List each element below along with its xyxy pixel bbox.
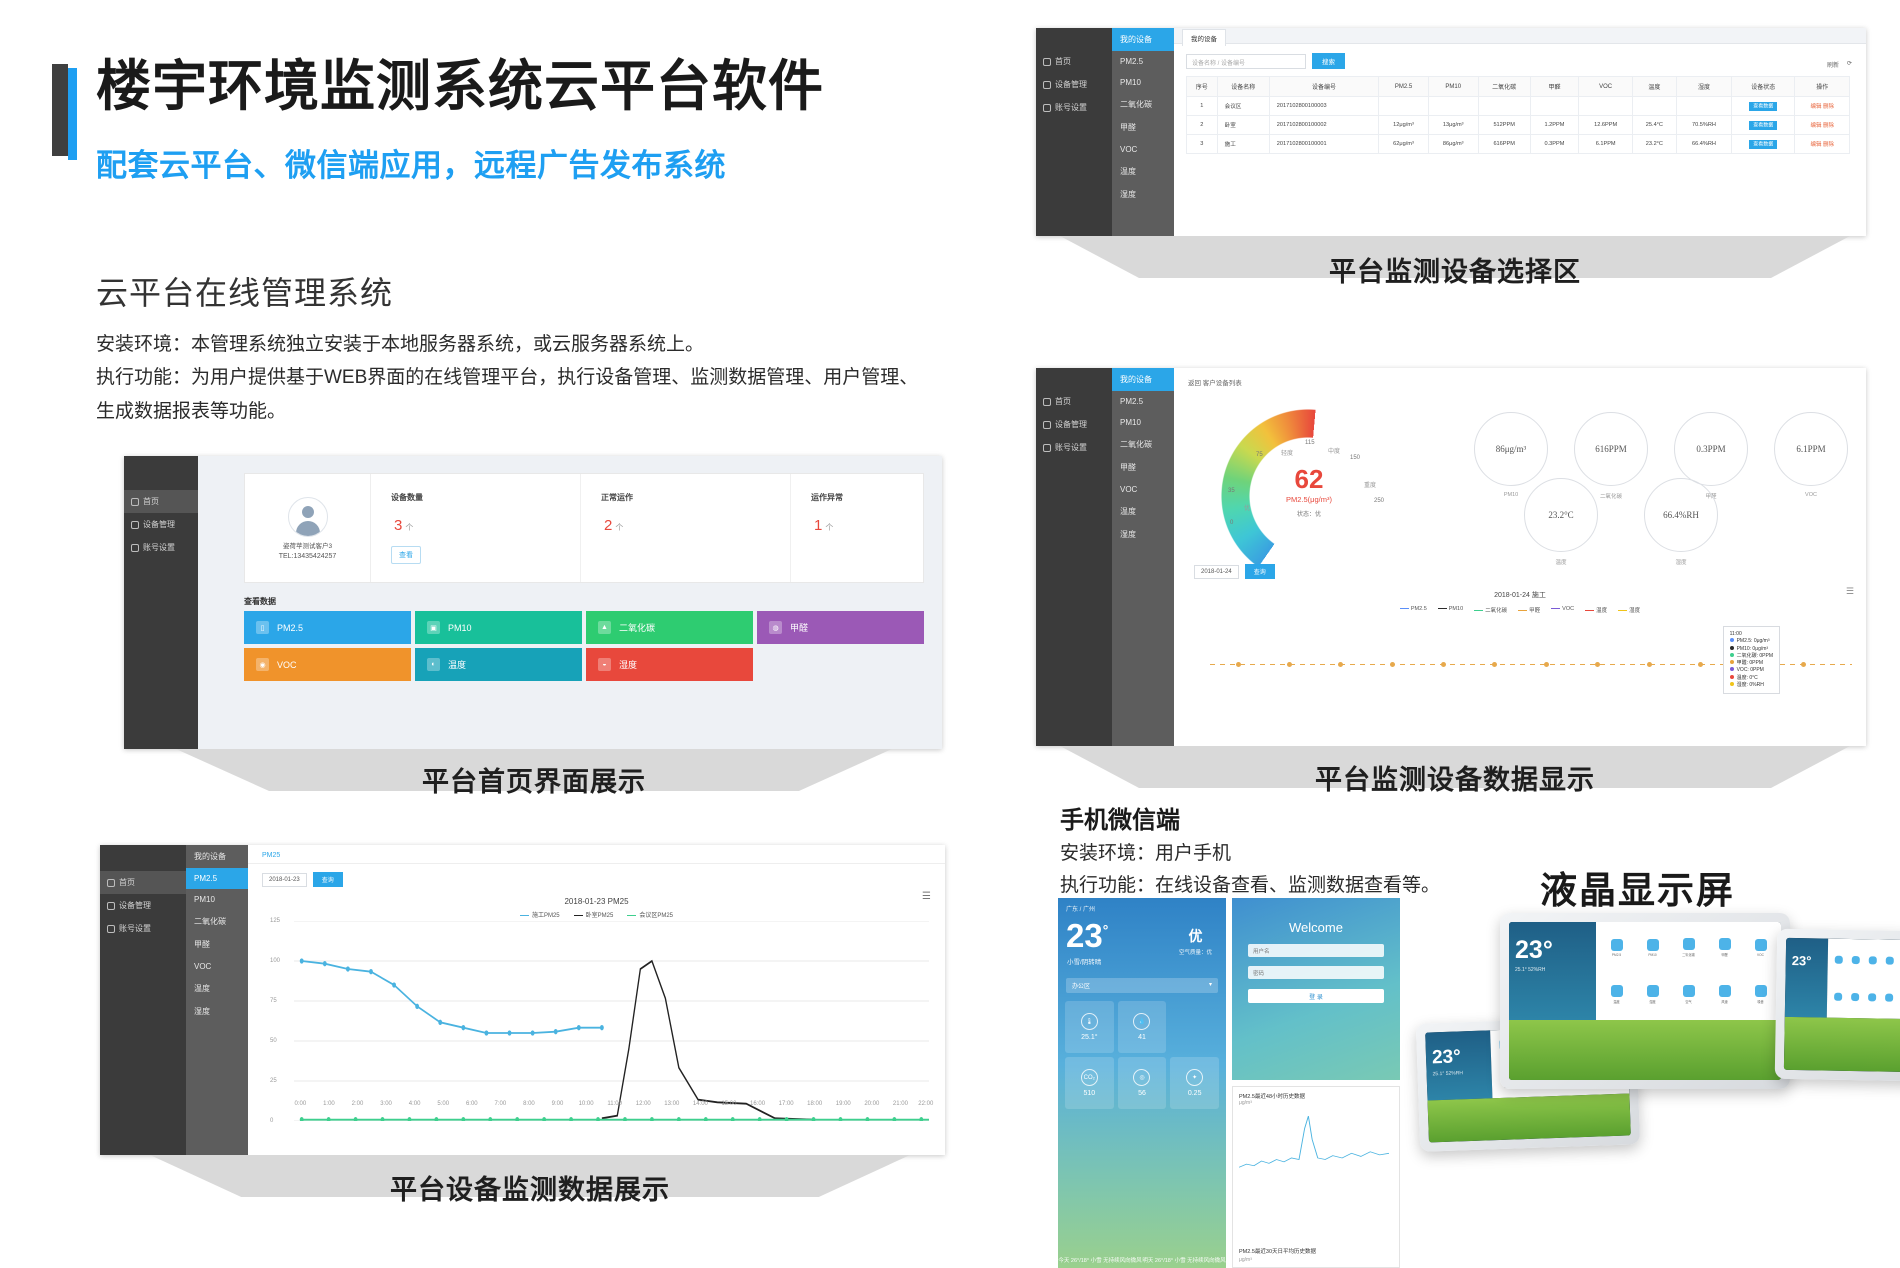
search-input[interactable]: 设备名称 / 设备编号 <box>1186 54 1306 69</box>
cell-pm10 <box>1428 97 1478 116</box>
cell-no: 1 <box>1187 97 1218 116</box>
devtable-submenu[interactable]: 我的设备 PM2.5 PM10 二氧化碳 甲醛 VOC 温度 湿度 <box>1112 28 1174 236</box>
tile-label: PM2.5 <box>277 623 303 633</box>
co2-icon: ▲ <box>598 621 611 634</box>
cell-co2: 616PPM <box>1478 135 1530 154</box>
submenu-humidity[interactable]: 湿度 <box>186 1000 248 1023</box>
ring-humidity-label: 湿度 <box>1644 558 1718 566</box>
history-unit-2: μg/m³ <box>1239 1257 1252 1263</box>
submenu-humidity[interactable]: 湿度 <box>1112 523 1174 546</box>
pm25-icon: ◎ <box>1133 1069 1150 1086</box>
tile-pm25[interactable]: ▯ PM2.5 <box>244 611 411 644</box>
x-tick: 6:00 <box>466 1101 478 1107</box>
cell-voc: 12.6PPM <box>1579 116 1633 135</box>
ring-pm10: 86μg/m³ <box>1474 412 1548 486</box>
kpi-label: 正常运作 <box>601 492 790 503</box>
submenu-pm25[interactable]: PM2.5 <box>186 868 248 889</box>
co2-icon <box>1683 938 1695 950</box>
trend-screenshot: 首页 设备管理 账号设置 我的设备 PM2.5 PM10 二氧化碳 甲醛 VOC… <box>100 845 945 1155</box>
gauge-readout: 62 PM2.5(μg/m³) 状态：优 <box>1204 466 1414 518</box>
col-pm25: PM2.5 <box>1379 77 1429 97</box>
tile-voc[interactable]: ◉ VOC <box>244 648 411 681</box>
cell-hum: 66.4%RH <box>1676 135 1732 154</box>
search-row: 设备名称 / 设备编号 搜索 <box>1174 44 1866 76</box>
ring-temp-label: 温度 <box>1524 558 1598 566</box>
y-tick: 75 <box>270 998 277 1004</box>
submenu-my-devices[interactable]: 我的设备 <box>1112 368 1174 391</box>
noise-icon <box>1755 985 1767 997</box>
ring-voc: 6.1PPM <box>1774 412 1848 486</box>
chart-tooltip: 11:00 PM2.5: 0μg/m³ PM10: 0μg/m³ 二氧化碳: 0… <box>1723 626 1780 694</box>
thermometer-icon: 🌡 <box>1081 1013 1098 1030</box>
lcd-weather-panel: 23° 25.1° 52%RH <box>1425 1030 1492 1100</box>
sidebar-item-home[interactable]: 首页 <box>100 871 186 894</box>
wechat-login-screen: Welcome 用户名 密码 登 录 <box>1232 898 1400 1080</box>
refresh-row[interactable]: 刷新 ⟳ <box>1827 60 1852 69</box>
gauge-tick: 150 <box>1350 455 1360 461</box>
chart-title: 2018-01-23 PM25 <box>248 897 945 906</box>
devdata-main: 返回 客户设备列表 0 35 75 115 150 250 优 轻度 中度 重度… <box>1174 368 1866 746</box>
forecast-footer: 今天 26°/18° 小雪 无持续风向微风 明天 26°/18° 小雪 无持续风… <box>1058 1256 1226 1264</box>
device-data-screenshot: 首页 设备管理 账号设置 我的设备 PM2.5 PM10 二氧化碳 甲醛 VOC… <box>1036 368 1866 746</box>
co2-icon <box>1869 956 1877 964</box>
sidebar-item-label: 账号设置 <box>1055 442 1087 453</box>
submenu-temp[interactable]: 温度 <box>1112 500 1174 523</box>
login-button[interactable]: 登 录 <box>1248 989 1384 1003</box>
x-tick: 10:00 <box>579 1101 594 1107</box>
tab-strip[interactable]: 我的设备 <box>1174 28 1866 44</box>
sidebar-item-home[interactable]: 首页 <box>1036 50 1112 73</box>
avatar <box>288 497 328 537</box>
lcd-heading: 液晶显示屏 <box>1540 860 1735 914</box>
cell-pm25 <box>1379 97 1429 116</box>
legend-construction[interactable]: 施工PM25 <box>520 910 560 919</box>
legend-meeting[interactable]: 会议区PM25 <box>627 910 673 919</box>
cell-code: 2017102800100001 <box>1269 135 1378 154</box>
home-icon <box>1043 398 1051 406</box>
x-tick: 15:00 <box>721 1101 736 1107</box>
hcho-icon <box>1886 957 1894 965</box>
history-title-2: PM2.5最近30天日平均历史数据 <box>1239 1247 1316 1255</box>
tooltip-item: VOC: 0PPM <box>1730 667 1773 674</box>
tile-label: 二氧化碳 <box>619 621 655 634</box>
gauge-band-label: 轻度 <box>1281 448 1293 457</box>
hcho-icon <box>1719 938 1731 950</box>
cell-temp: 25.4°C <box>1633 116 1676 135</box>
page-subtitle: 配套云平台、微信端应用，远程广告发布系统 <box>96 140 872 185</box>
cell-no: 3 <box>1187 135 1218 154</box>
x-tick: 12:00 <box>636 1101 651 1107</box>
table-row[interactable]: 3 施工 2017102800100001 62μg/m³ 86μg/m³ 61… <box>1187 135 1850 154</box>
device-icon <box>107 902 115 910</box>
lcd-decor <box>1428 1094 1631 1143</box>
tile-label: 湿度 <box>619 658 637 671</box>
x-tick: 19:00 <box>836 1101 851 1107</box>
paragraph-line-1: 安装环境：本管理系统独立安装于本地服务器系统，或云服务器系统上。 <box>96 328 1036 361</box>
temp-icon <box>1834 993 1842 1001</box>
submenu-pm25[interactable]: PM2.5 <box>1112 51 1174 72</box>
mobile-heading: 手机微信端 <box>1060 800 1180 835</box>
row-actions[interactable]: 编辑 删除 <box>1811 104 1835 110</box>
cell-value: 56 <box>1138 1090 1146 1097</box>
temp-icon: ◐ <box>427 658 440 671</box>
data-section-label: 查看数据 <box>244 596 276 607</box>
x-tick: 2:00 <box>352 1101 364 1107</box>
home-icon <box>131 498 139 506</box>
status-badge[interactable]: 查看数据 <box>1749 121 1777 130</box>
trend-main: PM25 2018-01-23 查询 ☰ 2018-01-23 PM25 施工P… <box>248 845 945 1155</box>
cell-pm10: 13μg/m³ <box>1428 116 1478 135</box>
hamburger-icon[interactable]: ☰ <box>922 891 931 902</box>
chart-title: 2018-01-24 施工 <box>1174 590 1866 600</box>
gauge-tick: 0 <box>1230 520 1233 526</box>
kpi-normal: 正常运作 2个 <box>581 474 791 582</box>
hcho-icon: ◍ <box>769 621 782 634</box>
history-chart <box>1239 1113 1389 1175</box>
section-paragraph: 安装环境：本管理系统独立安装于本地服务器系统，或云服务器系统上。 执行功能：为用… <box>96 328 1036 428</box>
hero-accent-bar <box>52 64 68 156</box>
username-field[interactable]: 用户名 <box>1248 944 1384 957</box>
sidebar-item-label: 账号设置 <box>1055 102 1087 113</box>
legend-temp[interactable]: 温度 <box>1585 606 1607 614</box>
col-pm10: PM10 <box>1428 77 1478 97</box>
gauge-tick: 75 <box>1256 452 1263 458</box>
cell-value: 0.25 <box>1188 1090 1202 1097</box>
trend-plot: 125 100 75 50 25 0 <box>294 921 929 1121</box>
trend-caption: 平台设备监测数据展示 <box>310 1168 750 1207</box>
tile-humidity[interactable]: ◒ 湿度 <box>586 648 753 681</box>
cell-hcho <box>1530 97 1578 116</box>
col-code: 设备编号 <box>1269 77 1378 97</box>
x-tick: 9:00 <box>552 1101 564 1107</box>
cell-pm25: 62μg/m³ <box>1379 135 1429 154</box>
cell-value: 41 <box>1138 1034 1146 1041</box>
lcd-weather-panel: 23° <box>1785 938 1829 1018</box>
submenu-voc[interactable]: VOC <box>186 956 248 977</box>
air-icon <box>1868 993 1876 1001</box>
row-actions[interactable]: 编辑 删除 <box>1811 123 1835 129</box>
tooltip-item: 二氧化碳: 0PPM <box>1730 653 1773 660</box>
submenu-temp[interactable]: 温度 <box>186 977 248 1000</box>
col-temp: 温度 <box>1633 77 1676 97</box>
cell-pm10: 86μg/m³ <box>1428 135 1478 154</box>
submenu-humidity[interactable]: 湿度 <box>1112 183 1174 206</box>
sidebar-item-settings[interactable]: 账号设置 <box>100 917 186 940</box>
cell-temp <box>1633 97 1676 116</box>
x-tick: 11:00 <box>607 1101 622 1107</box>
ring-voc-label: VOC <box>1774 492 1848 498</box>
wind-icon <box>1719 985 1731 997</box>
submenu-co2[interactable]: 二氧化碳 <box>1112 93 1174 116</box>
kpi-label: 设备数量 <box>391 492 580 503</box>
tab-my-devices[interactable]: 我的设备 <box>1182 29 1226 46</box>
date-input[interactable]: 2018-01-23 <box>262 873 307 887</box>
x-tick: 7:00 <box>495 1101 507 1107</box>
trend-sidebar[interactable]: 首页 设备管理 账号设置 <box>100 845 186 1155</box>
pm25-gauge: 0 35 75 115 150 250 优 轻度 中度 重度 62 PM2.5(… <box>1204 402 1414 542</box>
aqi-label: 空气质量：优 <box>1179 948 1212 956</box>
cell-voc: 6.1PPM <box>1579 135 1633 154</box>
cell-temperature[interactable]: 🌡25.1° <box>1065 1001 1114 1053</box>
query-button[interactable]: 查询 <box>1245 564 1275 579</box>
lcd-decor <box>1784 1017 1900 1072</box>
tile-label: 甲醛 <box>790 621 808 634</box>
cell-voc[interactable]: ✦0.25 <box>1170 1057 1219 1109</box>
data-tiles: ▯ PM2.5 ▣ PM10 ▲ 二氧化碳 ◍ 甲醛 ◉ VOC ◐ 温度 <box>244 611 924 681</box>
gauge-tick: 115 <box>1305 440 1315 446</box>
lcd-weather-panel: 23° 25.1° 52%RH <box>1509 922 1596 1020</box>
sidebar-item-device[interactable]: 设备管理 <box>1036 413 1112 436</box>
col-hcho: 甲醛 <box>1530 77 1578 97</box>
devdata-sidebar[interactable]: 首页 设备管理 账号设置 <box>1036 368 1112 746</box>
mobile-paragraph: 安装环境：用户手机 执行功能：在线设备查看、监测数据查看等。 <box>1060 838 1440 903</box>
voc-icon <box>1755 939 1767 951</box>
cell-hum: 70.5%RH <box>1676 116 1732 135</box>
sidebar-item-home[interactable]: 首页 <box>1036 390 1112 413</box>
x-tick: 16:00 <box>750 1101 765 1107</box>
submenu-pm10[interactable]: PM10 <box>186 889 248 910</box>
cell-co2 <box>1478 97 1530 116</box>
cell-hum <box>1676 97 1732 116</box>
tab-pm25[interactable]: PM25 <box>248 845 945 864</box>
humidity-icon: 💧 <box>1133 1013 1150 1030</box>
kpi-unit: 个 <box>825 523 833 532</box>
date-input[interactable]: 2018-01-24 <box>1194 565 1239 579</box>
tile-co2[interactable]: ▲ 二氧化碳 <box>586 611 753 644</box>
submenu-temp[interactable]: 温度 <box>1112 160 1174 183</box>
sidebar-item-label: 首页 <box>119 877 135 888</box>
sidebar-item-settings[interactable]: 账号设置 <box>124 536 198 559</box>
tooltip-item: 湿度: 0%RH <box>1730 682 1773 689</box>
tooltip-item: 甲醛: 0PPM <box>1730 660 1773 667</box>
devtable-sidebar[interactable]: 首页 设备管理 账号设置 <box>1036 28 1112 236</box>
tooltip-item: 温度: 0°C <box>1730 675 1773 682</box>
legend-pm10[interactable]: PM10 <box>1438 606 1463 614</box>
cell-humidity[interactable]: 💧41 <box>1118 1001 1167 1053</box>
page-title: 楼宇环境监测系统云平台软件 <box>96 58 872 116</box>
date-filter-row: 2018-01-24 查询 <box>1194 564 1275 579</box>
cell-pm25[interactable]: ◎56 <box>1118 1057 1167 1109</box>
wind-icon <box>1885 994 1893 1002</box>
cell-name: 卧室 <box>1217 116 1269 135</box>
x-tick: 1:00 <box>323 1101 335 1107</box>
sensor-grid: 🌡25.1° 💧41 CO₂510 ◎56 ✦0.25 <box>1065 1001 1219 1109</box>
kpi-value: 1 <box>814 517 822 534</box>
legend-pm25[interactable]: PM2.5 <box>1400 606 1427 614</box>
table-row[interactable]: 1 会议区 2017102800100003 查看数据 编辑 删除 <box>1187 97 1850 116</box>
device-icon <box>131 521 139 529</box>
lcd-tile-grid <box>1827 939 1900 1020</box>
kpi-unit: 个 <box>615 523 623 532</box>
kpi-value: 3 <box>394 517 402 534</box>
view-button[interactable]: 查看 <box>391 546 421 564</box>
cell-name: 会议区 <box>1217 97 1269 116</box>
refresh-icon[interactable]: ⟳ <box>1847 60 1852 69</box>
submenu-hcho[interactable]: 甲醛 <box>1112 456 1174 479</box>
col-no: 序号 <box>1187 77 1218 97</box>
login-title: Welcome <box>1232 920 1400 935</box>
cell-co2: 512PPM <box>1478 116 1530 135</box>
legend-humidity[interactable]: 湿度 <box>1618 606 1640 614</box>
forecast-tomorrow: 明天 26°/18° 小雪 无持续风向微风 <box>1142 1256 1225 1264</box>
cell-hcho: 0.3PPM <box>1530 135 1578 154</box>
tile-label: VOC <box>277 660 297 670</box>
col-name: 设备名称 <box>1217 77 1269 97</box>
pm25-icon: ▯ <box>256 621 269 634</box>
tooltip-item: PM10: 0μg/m³ <box>1730 646 1773 653</box>
devtable-caption: 平台监测设备选择区 <box>1220 250 1690 289</box>
submenu-my-devices[interactable]: 我的设备 <box>1112 28 1174 51</box>
weather-desc: 小雪/阴转晴 <box>1067 956 1226 966</box>
gauge-status: 状态：优 <box>1204 509 1414 518</box>
mobile-line-1: 安装环境：用户手机 <box>1060 838 1440 870</box>
trend-submenu[interactable]: 我的设备 PM2.5 PM10 二氧化碳 甲醛 VOC 温度 湿度 <box>186 845 248 1155</box>
section-title: 云平台在线管理系统 <box>96 268 393 314</box>
room-select[interactable]: 办公区 ▾ <box>1066 978 1218 993</box>
air-icon <box>1683 985 1695 997</box>
x-tick: 3:00 <box>380 1101 392 1107</box>
cell-value: 510 <box>1083 1090 1095 1097</box>
y-tick: 0 <box>270 1118 273 1124</box>
query-button[interactable]: 查询 <box>313 872 343 887</box>
gauge-unit: PM2.5(μg/m³) <box>1204 495 1414 504</box>
device-icon <box>1043 421 1051 429</box>
submenu-co2[interactable]: 二氧化碳 <box>186 910 248 933</box>
lcd-temp: 23° <box>1515 938 1590 963</box>
chart-legend[interactable]: PM2.5 PM10 二氧化碳 甲醛 VOC 温度 湿度 <box>1174 606 1866 614</box>
location-label: 广东 / 广州 <box>1058 898 1226 913</box>
sidebar-item-label: 首页 <box>1055 56 1071 67</box>
cell-name: 施工 <box>1217 135 1269 154</box>
sidebar-item-home[interactable]: 首页 <box>124 490 198 513</box>
paragraph-line-3: 生成数据报表等功能。 <box>96 395 1036 428</box>
legend-hcho[interactable]: 甲醛 <box>1518 606 1540 614</box>
tile-pm10[interactable]: ▣ PM10 <box>415 611 582 644</box>
lcd-tile-grid: PM2.5 PM10 二氧化碳 甲醛 VOC 温度 湿度 空气 风速 噪音 <box>1596 922 1781 1020</box>
tile-temp[interactable]: ◐ 温度 <box>415 648 582 681</box>
cell-co2[interactable]: CO₂510 <box>1065 1057 1114 1109</box>
lcd-display-right: 23° <box>1775 929 1900 1082</box>
device-table-screenshot: 首页 设备管理 账号设置 我的设备 PM2.5 PM10 二氧化碳 甲醛 VOC… <box>1036 28 1866 236</box>
refresh-label[interactable]: 刷新 <box>1827 60 1839 69</box>
submenu-voc[interactable]: VOC <box>1112 479 1174 500</box>
pm25-icon <box>1835 956 1843 964</box>
submenu-pm25[interactable]: PM2.5 <box>1112 391 1174 412</box>
gauge-band-label: 中度 <box>1328 446 1340 455</box>
password-field[interactable]: 密码 <box>1248 966 1384 979</box>
sidebar-item-settings[interactable]: 账号设置 <box>1036 96 1112 119</box>
x-tick: 0:00 <box>295 1101 307 1107</box>
pm10-icon: ▣ <box>427 621 440 634</box>
tooltip-time: 11:00 <box>1730 631 1773 638</box>
col-voc: VOC <box>1579 77 1633 97</box>
sidebar-item-label: 设备管理 <box>143 519 175 530</box>
status-badge[interactable]: 查看数据 <box>1749 102 1777 111</box>
cell-hcho: 1.2PPM <box>1530 116 1578 135</box>
x-tick: 18:00 <box>807 1101 822 1107</box>
kpi-device-count: 设备数量 3个 查看 <box>371 474 581 582</box>
pm25-icon <box>1611 939 1623 951</box>
lcd-screen: 23° <box>1784 938 1900 1072</box>
devdata-submenu[interactable]: 我的设备 PM2.5 PM10 二氧化碳 甲醛 VOC 温度 湿度 <box>1112 368 1174 746</box>
paragraph-line-2: 执行功能：为用户提供基于WEB界面的在线管理平台，执行设备管理、监测数据管理、用… <box>96 361 1036 394</box>
user-tel: TEL:13435424257 <box>279 553 337 560</box>
dashboard-sidebar[interactable]: 首页 设备管理 账号设置 <box>124 456 198 749</box>
lcd-display-main: 23° 25.1° 52%RH PM2.5 PM10 二氧化碳 甲醛 VOC 温… <box>1500 913 1790 1089</box>
tile-hcho[interactable]: ◍ 甲醛 <box>757 611 924 644</box>
submenu-pm10[interactable]: PM10 <box>1112 412 1174 433</box>
lcd-screen: 23° 25.1° 52%RH PM2.5 PM10 二氧化碳 甲醛 VOC 温… <box>1509 922 1781 1080</box>
trend-controls: 2018-01-23 查询 <box>248 864 945 893</box>
lcd-decor <box>1509 1020 1781 1080</box>
tooltip-item: PM2.5: 0μg/m³ <box>1730 638 1773 645</box>
ring-humidity: 66.4%RH <box>1644 478 1718 552</box>
sidebar-item-device[interactable]: 设备管理 <box>100 894 186 917</box>
sidebar-item-device[interactable]: 设备管理 <box>124 513 198 536</box>
submenu-pm10[interactable]: PM10 <box>1112 72 1174 93</box>
x-tick: 17:00 <box>779 1101 794 1107</box>
ring-temp: 23.2°C <box>1524 478 1598 552</box>
voc-icon: ✦ <box>1186 1069 1203 1086</box>
sidebar-item-label: 设备管理 <box>1055 79 1087 90</box>
cell-no: 2 <box>1187 116 1218 135</box>
ring-co2: 616PPM <box>1574 412 1648 486</box>
search-button[interactable]: 搜索 <box>1312 53 1345 69</box>
chart-legend[interactable]: 施工PM25 卧室PM25 会议区PM25 <box>248 910 945 919</box>
home-icon <box>1043 58 1051 66</box>
submenu-hcho[interactable]: 甲醛 <box>1112 116 1174 139</box>
tile-label: PM10 <box>448 623 472 633</box>
device-table: 序号 设备名称 设备编号 PM2.5 PM10 二氧化碳 甲醛 VOC 温度 湿… <box>1186 76 1850 154</box>
pm10-icon <box>1647 939 1659 951</box>
submenu-hcho[interactable]: 甲醛 <box>186 933 248 956</box>
legend-voc[interactable]: VOC <box>1551 606 1574 614</box>
legend-co2[interactable]: 二氧化碳 <box>1474 606 1507 614</box>
submenu-co2[interactable]: 二氧化碳 <box>1112 433 1174 456</box>
dashboard-screenshot: 首页 设备管理 账号设置 姿荷苹测试客户3 TEL:13435424257 设备… <box>124 456 942 749</box>
y-tick: 125 <box>270 918 280 924</box>
x-tick: 13:00 <box>664 1101 679 1107</box>
x-tick: 5:00 <box>437 1101 449 1107</box>
cell-value: 25.1° <box>1081 1034 1097 1041</box>
row-actions[interactable]: 编辑 删除 <box>1811 142 1835 148</box>
kpi-label: 运作异常 <box>811 492 923 503</box>
kpi-value: 2 <box>604 517 612 534</box>
settings-icon <box>1043 444 1051 452</box>
sidebar-item-label: 首页 <box>1055 396 1071 407</box>
x-tick: 14:00 <box>693 1101 708 1107</box>
table-row[interactable]: 2 卧室 2017102800100002 12μg/m³ 13μg/m³ 51… <box>1187 116 1850 135</box>
y-tick: 50 <box>270 1038 277 1044</box>
submenu-my-devices[interactable]: 我的设备 <box>186 845 248 868</box>
pm10-icon <box>1852 956 1860 964</box>
breadcrumb[interactable]: 返回 客户设备列表 <box>1174 368 1866 387</box>
aqi-block: 优 空气质量：优 <box>1179 926 1212 956</box>
sidebar-item-device[interactable]: 设备管理 <box>1036 73 1112 96</box>
co2-icon: CO₂ <box>1081 1069 1098 1086</box>
x-tick: 21:00 <box>893 1101 908 1107</box>
sidebar-item-label: 账号设置 <box>119 923 151 934</box>
status-badge[interactable]: 查看数据 <box>1749 140 1777 149</box>
col-op: 操作 <box>1795 77 1850 97</box>
user-name: 姿荷苹测试客户3 <box>283 540 332 550</box>
humidity-icon <box>1851 993 1859 1001</box>
col-hum: 湿度 <box>1676 77 1732 97</box>
sidebar-item-settings[interactable]: 账号设置 <box>1036 436 1112 459</box>
legend-bedroom[interactable]: 卧室PM25 <box>574 910 614 919</box>
submenu-voc[interactable]: VOC <box>1112 139 1174 160</box>
devtable-main: 我的设备 设备名称 / 设备编号 搜索 刷新 ⟳ 序号 设备名称 设备编号 PM… <box>1174 28 1866 236</box>
